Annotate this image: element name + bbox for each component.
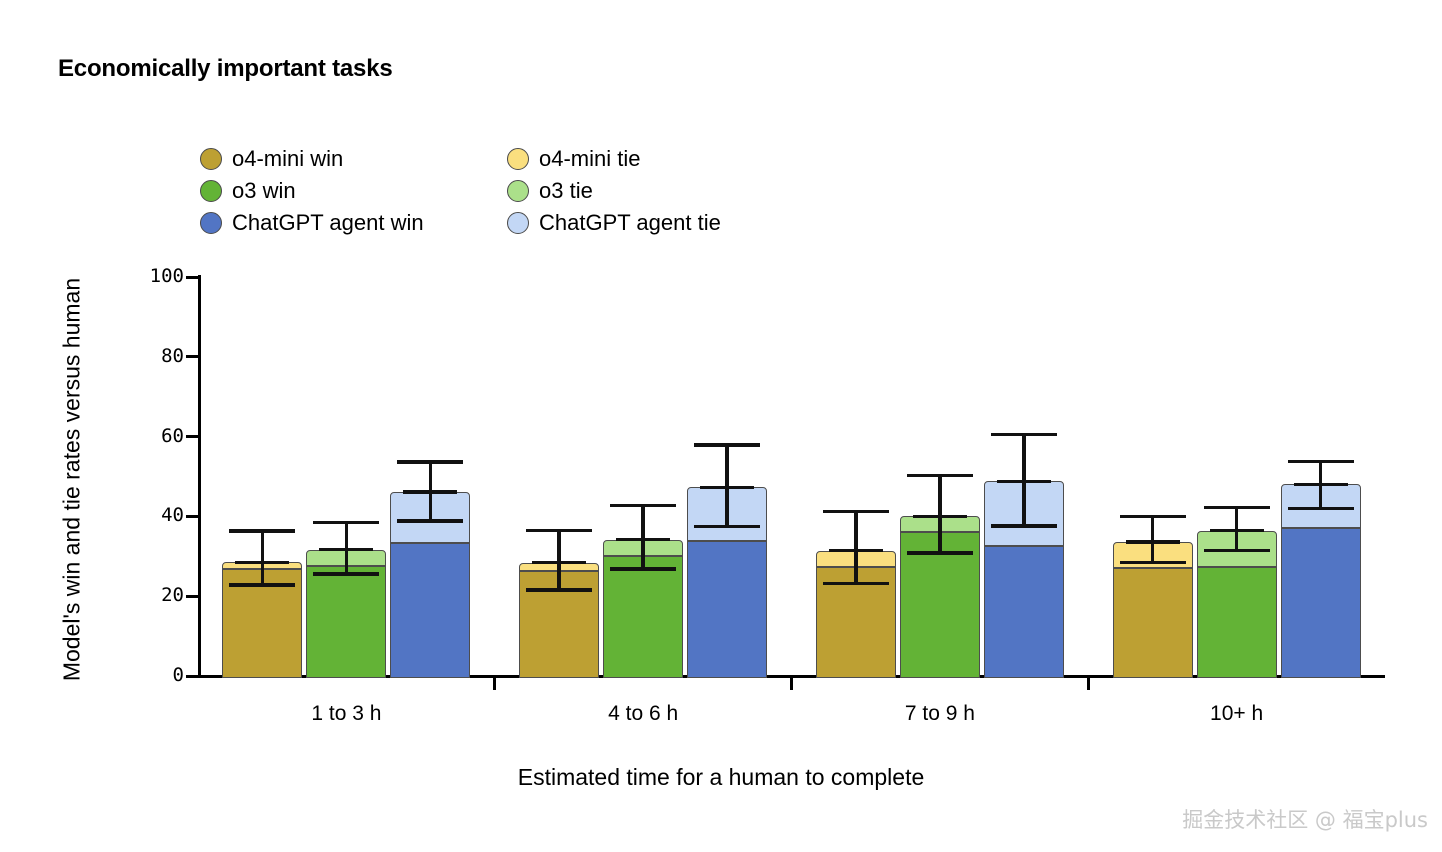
y-axis-tick-label: 20 [124,586,184,605]
error-bar-center-cap [1210,529,1264,532]
error-bar-lower-cap [313,572,379,575]
error-bar-center-cap [319,548,373,551]
error-bar-lower-cap [229,583,295,586]
legend-item[interactable]: o4-mini win [200,143,507,175]
y-axis-tick-label: 0 [124,666,184,685]
error-bar-upper-cap [823,510,889,513]
y-axis-tick-label: 40 [124,506,184,525]
legend-item[interactable]: ChatGPT agent tie [507,207,721,239]
bar-segment-chatgpt-agent-win [390,543,470,678]
legend-swatch-icon [507,148,529,170]
bar-segment-chatgpt-agent-win [1281,528,1361,678]
error-bar-upper-cap [1204,506,1270,509]
error-bar-lower-cap [1120,561,1186,564]
watermark: 掘金技术社区 @ 福宝plus [1182,804,1428,834]
error-bar-center-cap [1126,540,1180,543]
error-bar-upper-cap [694,443,760,446]
error-bar-lower-cap [1204,549,1270,552]
error-bar-upper-cap [229,529,295,532]
error-bar-lower-cap [526,588,592,591]
x-axis-tick-label: 4 to 6 h [543,703,743,724]
legend-item[interactable]: o3 win [200,175,507,207]
x-axis-tick-label: 7 to 9 h [840,703,1040,724]
legend-swatch-icon [507,180,529,202]
x-axis-tick [493,677,496,690]
error-bar-upper-cap [526,529,592,532]
error-bar-center-cap [829,549,883,552]
error-bar-center-cap [700,486,754,489]
y-axis-tick-label: 80 [124,347,184,366]
bar-segment-o3-win [306,566,386,678]
error-bar-center-cap [616,538,670,541]
legend-swatch-icon [200,180,222,202]
x-axis-tick-label: 1 to 3 h [246,703,446,724]
error-bar-upper-cap [907,474,973,477]
chart-legend: o4-mini wino4-mini tieo3 wino3 tieChatGP… [200,143,721,239]
error-bar-center-cap [532,561,586,564]
x-axis-title: Estimated time for a human to complete [0,764,1442,791]
error-bar-upper-cap [610,504,676,507]
legend-label: o3 tie [539,180,593,202]
error-bar-upper-cap [313,521,379,524]
legend-swatch-icon [200,148,222,170]
legend-item[interactable]: o3 tie [507,175,721,207]
error-bar-lower-cap [397,519,463,522]
error-bar-lower-cap [991,524,1057,527]
error-bar-line [261,531,264,585]
error-bar-lower-cap [694,525,760,528]
error-bar-lower-cap [823,582,889,585]
chart-root: Economically important tasks o4-mini win… [0,0,1442,852]
error-bar-center-cap [403,490,457,493]
error-bar-upper-cap [1288,460,1354,463]
y-axis-title: Model's win and tie rates versus human [59,220,86,740]
bar-segment-o4-mini-win [1113,568,1193,678]
error-bar-upper-cap [397,460,463,463]
error-bar-upper-cap [1120,515,1186,518]
error-bar-center-cap [997,480,1051,483]
x-axis-tick-label: 10+ h [1137,703,1337,724]
error-bar-upper-cap [991,433,1057,436]
error-bar-lower-cap [907,551,973,554]
y-axis-tick-label: 100 [124,267,184,286]
legend-item[interactable]: o4-mini tie [507,143,721,175]
bar-segment-o3-win [603,556,683,678]
error-bar-center-cap [913,515,967,518]
legend-label: ChatGPT agent win [232,212,424,234]
bar-segment-chatgpt-agent-win [687,541,767,678]
y-axis-tick-label: 60 [124,427,184,446]
error-bar-line [854,512,857,584]
error-bar-center-cap [235,561,289,564]
bar-segment-chatgpt-agent-win [984,546,1064,678]
legend-label: o4-mini win [232,148,343,170]
legend-swatch-icon [200,212,222,234]
chart-title: Economically important tasks [58,55,393,83]
error-bar-lower-cap [610,567,676,570]
x-axis-tick [1087,677,1090,690]
legend-label: o4-mini tie [539,148,640,170]
bar-segment-o3-win [1197,567,1277,678]
error-bar-center-cap [1294,483,1348,486]
x-axis-tick [790,677,793,690]
legend-swatch-icon [507,212,529,234]
plot-area [198,277,1385,676]
error-bar-lower-cap [1288,507,1354,510]
legend-label: o3 win [232,180,296,202]
legend-label: ChatGPT agent tie [539,212,721,234]
legend-item[interactable]: ChatGPT agent win [200,207,507,239]
